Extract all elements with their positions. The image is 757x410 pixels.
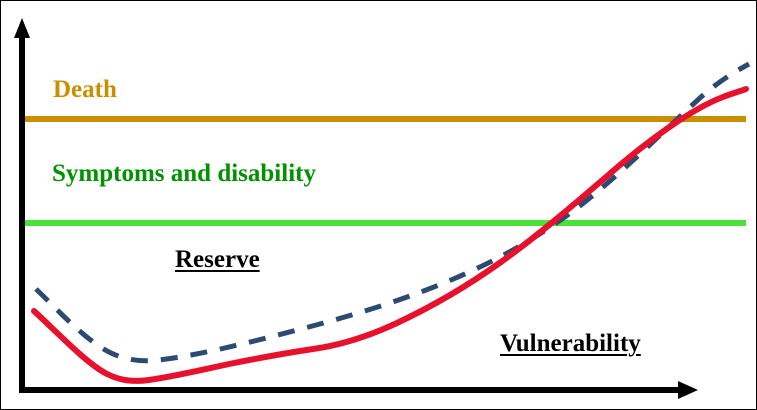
reserve-zone-label: Reserve (175, 247, 260, 272)
dashed-reserve-curve (36, 64, 749, 361)
x-axis-arrowhead-icon (678, 381, 698, 399)
symptoms-zone-label: Symptoms and disability (52, 161, 316, 186)
y-axis-arrowhead-icon (14, 18, 30, 38)
reserve-vulnerability-figure: Death Symptoms and disability Reserve Vu… (0, 0, 757, 410)
x-axis-title: Vulnerability (500, 331, 641, 356)
death-zone-label: Death (53, 77, 117, 102)
plot-canvas (1, 1, 757, 410)
